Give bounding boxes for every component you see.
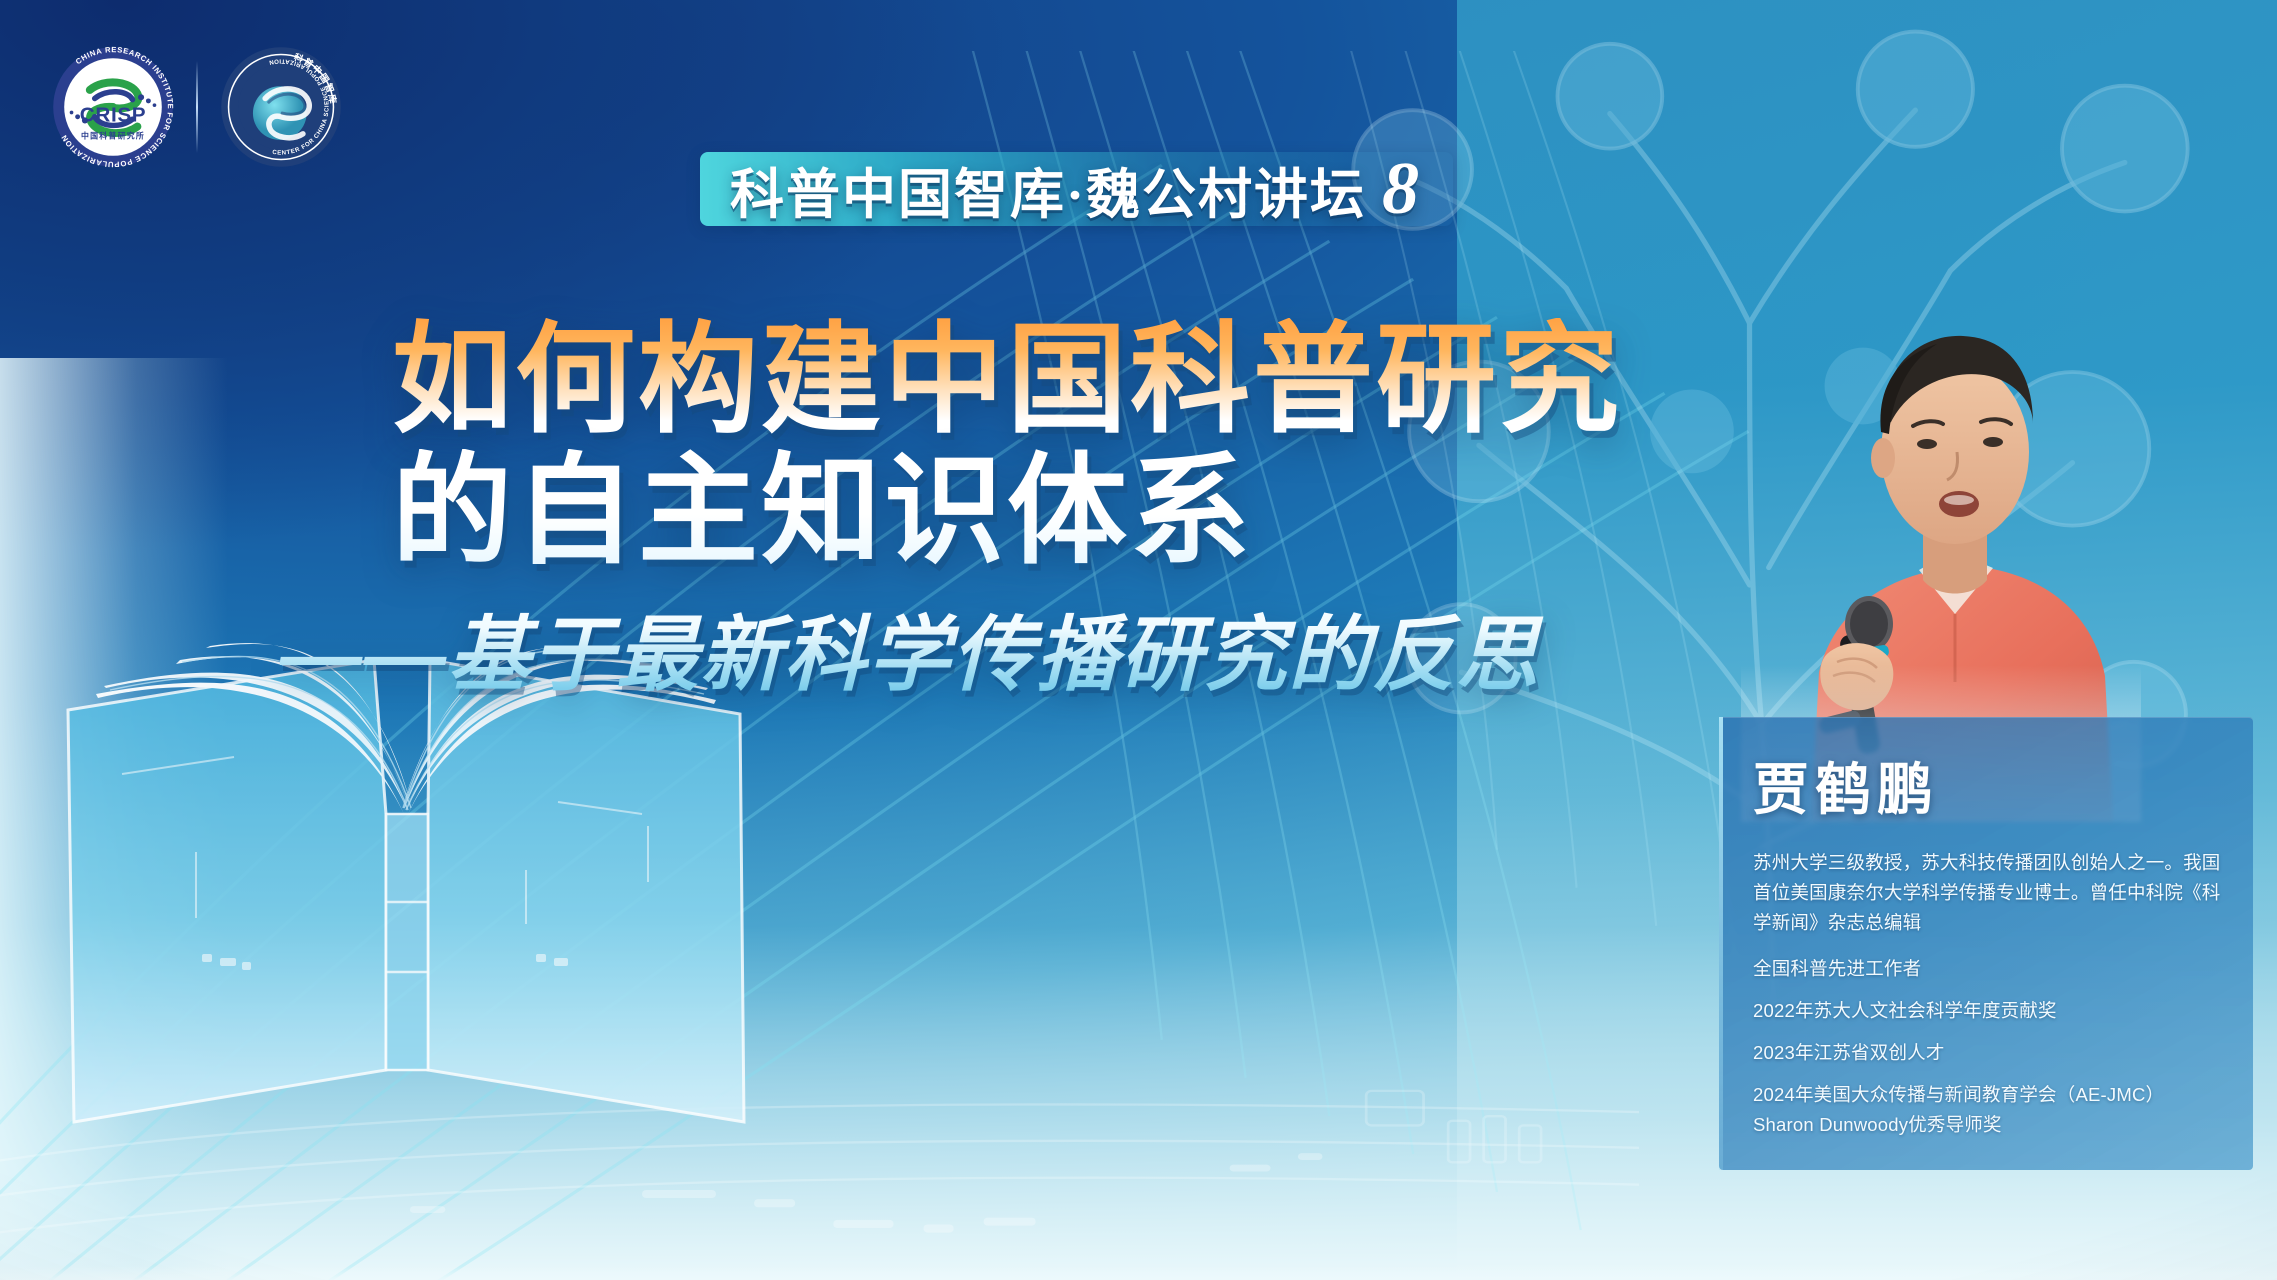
speaker-bio: 苏州大学三级教授，苏大科技传播团队创始人之一。我国首位美国康奈尔大学科学传播专业…	[1753, 848, 2223, 938]
crisp-logo: CHINA RESEARCH INSTITUTE FOR SCIENCE POP…	[52, 46, 174, 168]
speaker-name: 贾鹤鹏	[1753, 745, 2223, 826]
list-item: 全国科普先进工作者	[1753, 954, 2223, 984]
title-line-1: 如何构建中国科普研究	[392, 318, 1812, 443]
speaker-info-panel: 贾鹤鹏 苏州大学三级教授，苏大科技传播团队创始人之一。我国首位美国康奈尔大学科学…	[1719, 717, 2253, 1170]
main-title-block: 如何构建中国科普研究 的自主知识体系 ——基于最新科学传播研究的反思	[392, 318, 1812, 707]
title-subtitle: ——基于最新科学传播研究的反思	[280, 588, 1812, 707]
svg-text:中国科普研究所: 中国科普研究所	[81, 131, 145, 141]
list-item: 2024年美国大众传播与新闻教育学会（AE-JMC）Sharon Dunwood…	[1753, 1080, 2223, 1140]
logo-bar: CHINA RESEARCH INSTITUTE FOR SCIENCE POP…	[52, 46, 342, 168]
forum-ribbon-banner: 科普中国智库·魏公村讲坛 8	[700, 152, 1453, 226]
logo-divider	[196, 61, 198, 153]
title-line-2: 的自主知识体系	[392, 449, 1812, 574]
ribbon-issue-number: 8	[1382, 156, 1419, 223]
speaker-honors-list: 全国科普先进工作者 2022年苏大人文社会科学年度贡献奖 2023年江苏省双创人…	[1753, 954, 2223, 1140]
center-china-science-popularization-logo: CENTER FOR CHINA SCIENCE POPULARIZATION …	[220, 46, 342, 168]
list-item: 2022年苏大人文社会科学年度贡献奖	[1753, 996, 2223, 1026]
bottom-edge-glow	[0, 1266, 2277, 1280]
ribbon-title: 科普中国智库·魏公村讲坛	[730, 150, 1366, 229]
svg-text:CRISP: CRISP	[80, 104, 146, 127]
poster-canvas: CHINA RESEARCH INSTITUTE FOR SCIENCE POP…	[0, 0, 2277, 1280]
list-item: 2023年江苏省双创人才	[1753, 1038, 2223, 1068]
